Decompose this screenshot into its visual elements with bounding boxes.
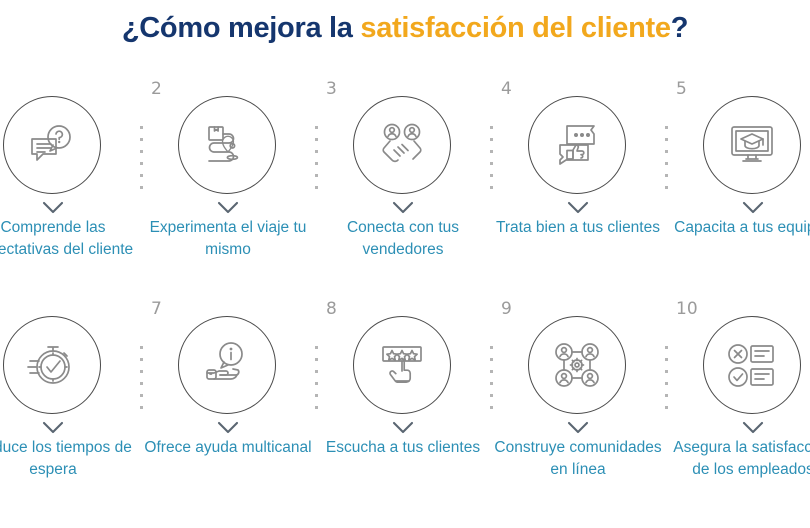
step-number: 3 <box>326 80 337 98</box>
page-title-part3: ? <box>671 12 688 44</box>
page-title-part1: ¿Cómo mejora la <box>122 12 361 44</box>
step-number: 7 <box>151 300 162 318</box>
dotted-connector <box>490 126 493 190</box>
speech-bubble-thumbs-up-icon <box>551 119 603 171</box>
chevron-down-icon <box>497 416 659 438</box>
chevron-down-icon <box>322 416 484 438</box>
dotted-connector <box>140 126 143 190</box>
checklist-survey-icon <box>726 339 778 391</box>
step-label: Reduce los tiempos de espera <box>0 437 138 481</box>
step-label: Asegura la satisfacción de los empleados <box>668 437 810 481</box>
step-number: 8 <box>326 300 337 318</box>
step-icon-circle <box>528 316 626 414</box>
dotted-connector <box>665 346 668 410</box>
step-label: Experimenta el viaje tu mismo <box>143 217 313 261</box>
handshake-people-icon <box>376 119 428 171</box>
step-icon-circle <box>703 316 801 414</box>
chevron-down-icon <box>147 196 309 218</box>
step-number: 4 <box>501 80 512 98</box>
journey-path-pin-icon <box>201 119 253 171</box>
step-label: Trata bien a tus clientes <box>493 217 663 239</box>
speech-bubbles-question-icon <box>26 119 78 171</box>
dotted-connector <box>315 346 318 410</box>
dotted-connector <box>140 346 143 410</box>
step-number: 5 <box>676 80 687 98</box>
chevron-down-icon <box>672 196 810 218</box>
steps-row-1: 1 Comprende las expectativas del cliente… <box>0 84 810 304</box>
step-icon-circle <box>178 316 276 414</box>
page-title: ¿Cómo mejora la satisfacción del cliente… <box>0 9 810 47</box>
chevron-down-icon <box>147 416 309 438</box>
step-label: Conecta con tus vendedores <box>318 217 488 261</box>
steps-grid: 1 Comprende las expectativas del cliente… <box>0 84 810 528</box>
people-network-gear-icon <box>551 339 603 391</box>
step-label: Comprende las expectativas del cliente <box>0 217 138 261</box>
step-label: Ofrece ayuda multicanal <box>143 437 313 459</box>
step-icon-circle <box>3 96 101 194</box>
chevron-down-icon <box>0 416 134 438</box>
monitor-graduation-cap-icon <box>726 119 778 171</box>
step-number: 2 <box>151 80 162 98</box>
step-label: Escucha a tus clientes <box>318 437 488 459</box>
step-label: Capacita a tus equipos <box>668 217 810 239</box>
step-icon-circle <box>3 316 101 414</box>
chevron-down-icon <box>322 196 484 218</box>
chevron-down-icon <box>672 416 810 438</box>
step-label: Construye comunidades en línea <box>493 437 663 481</box>
dotted-connector <box>490 346 493 410</box>
step-icon-circle <box>353 96 451 194</box>
dotted-connector <box>665 126 668 190</box>
step-number: 10 <box>676 300 698 318</box>
chevron-down-icon <box>497 196 659 218</box>
chevron-down-icon <box>0 196 134 218</box>
step-icon-circle <box>353 316 451 414</box>
star-rating-hand-icon <box>376 339 428 391</box>
hand-info-bubble-icon <box>201 339 253 391</box>
page-title-highlight: satisfacción del cliente <box>360 12 670 44</box>
steps-row-2: 6 Reduce los tiempos de espera 7 <box>0 304 810 528</box>
stopwatch-check-icon <box>26 339 78 391</box>
step-number: 9 <box>501 300 512 318</box>
dotted-connector <box>315 126 318 190</box>
step-icon-circle <box>528 96 626 194</box>
step-icon-circle <box>178 96 276 194</box>
step-icon-circle <box>703 96 801 194</box>
